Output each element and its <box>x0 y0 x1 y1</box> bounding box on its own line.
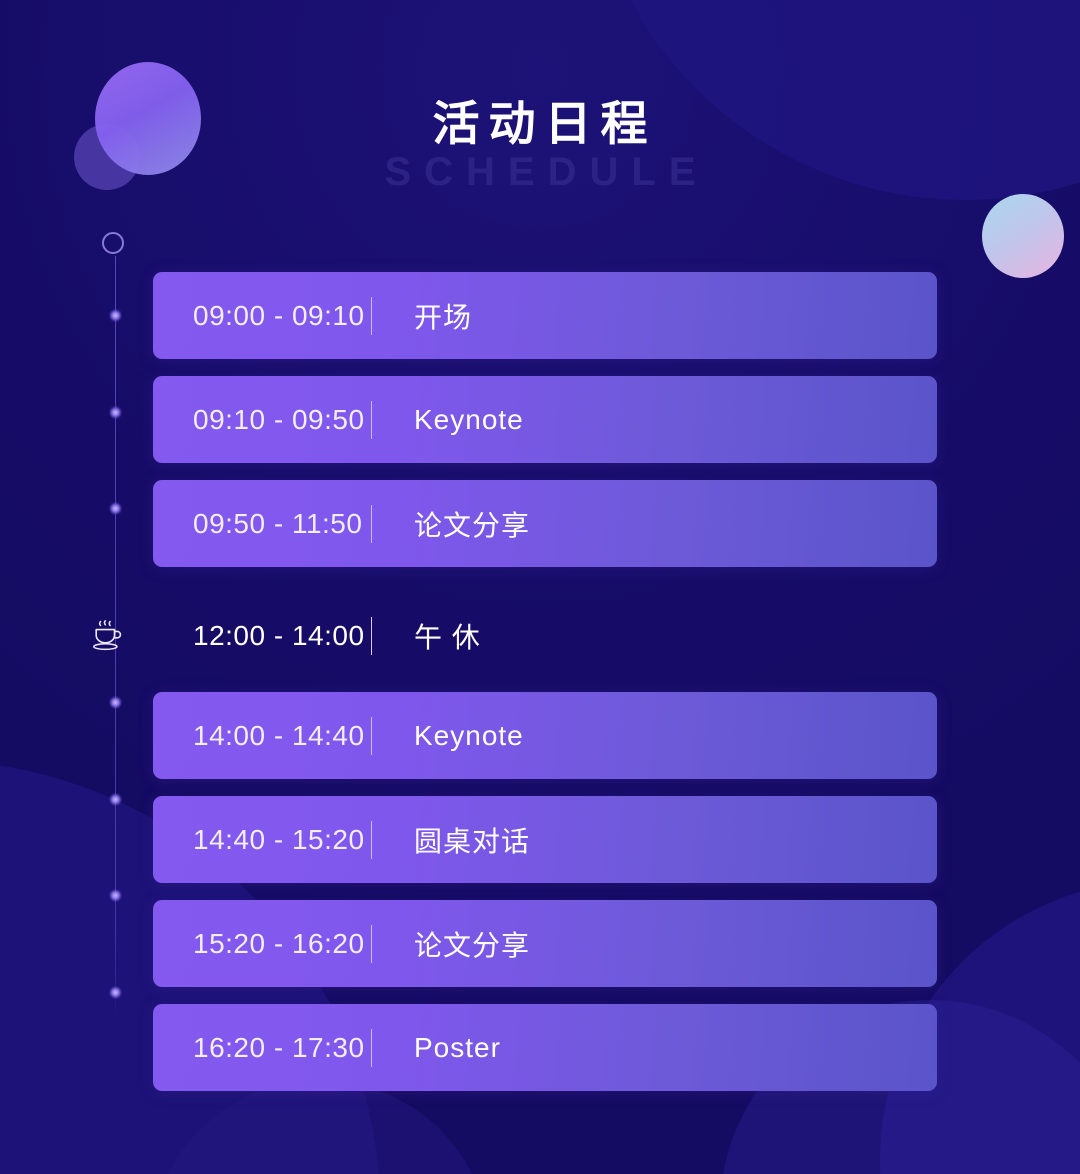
schedule-row-time: 09:00 - 09:10 <box>153 300 371 332</box>
timeline-dot-icon <box>109 986 122 999</box>
schedule-row-divider <box>371 401 372 439</box>
schedule-row-divider <box>371 505 372 543</box>
schedule-row-time: 14:00 - 14:40 <box>153 720 371 752</box>
timeline-dot-icon <box>109 502 122 515</box>
timeline-dot-icon <box>109 889 122 902</box>
schedule-row-divider <box>371 925 372 963</box>
schedule-row-title: Keynote <box>372 404 524 436</box>
schedule-watermark-text: SCHEDULE <box>0 150 1080 195</box>
schedule-poster: SCHEDULE 活动日程 09:00 - 09:10 开场 09:10 - 0… <box>0 0 1080 1174</box>
schedule-row-title: 论文分享 <box>372 924 530 964</box>
schedule-row[interactable]: 09:10 - 09:50 Keynote <box>153 376 937 463</box>
coffee-cup-icon <box>86 614 130 658</box>
schedule-row[interactable]: 14:40 - 15:20 圆桌对话 <box>153 796 937 883</box>
timeline-start-ring-icon <box>102 232 124 254</box>
schedule-row-title: 午 休 <box>372 616 481 656</box>
schedule-row-title: Poster <box>372 1032 501 1064</box>
schedule-row-divider <box>371 617 372 655</box>
schedule-row-divider <box>371 1029 372 1067</box>
schedule-row[interactable]: 14:00 - 14:40 Keynote <box>153 692 937 779</box>
poster-header: SCHEDULE 活动日程 <box>0 98 1080 208</box>
schedule-row-break: 12:00 - 14:00 午 休 <box>153 580 937 692</box>
schedule-row-title: 圆桌对话 <box>372 820 530 860</box>
schedule-row-time: 14:40 - 15:20 <box>153 824 371 856</box>
schedule-row-title: 论文分享 <box>372 504 530 544</box>
schedule-row-divider <box>371 821 372 859</box>
schedule-row-time: 09:10 - 09:50 <box>153 404 371 436</box>
schedule-row-title: 开场 <box>372 296 472 336</box>
schedule-row[interactable]: 09:50 - 11:50 论文分享 <box>153 480 937 567</box>
schedule-row-title: Keynote <box>372 720 524 752</box>
schedule-row-divider <box>371 297 372 335</box>
schedule-row[interactable]: 16:20 - 17:30 Poster <box>153 1004 937 1091</box>
schedule-row-time: 12:00 - 14:00 <box>153 620 371 652</box>
timeline-dot-icon <box>109 793 122 806</box>
schedule-row-time: 15:20 - 16:20 <box>153 928 371 960</box>
page-title: 活动日程 <box>0 98 1080 150</box>
timeline-dot-icon <box>109 696 122 709</box>
schedule-row-time: 16:20 - 17:30 <box>153 1032 371 1064</box>
timeline-dot-icon <box>109 406 122 419</box>
schedule-row-divider <box>371 717 372 755</box>
schedule-row[interactable]: 15:20 - 16:20 论文分享 <box>153 900 937 987</box>
schedule-list: 09:00 - 09:10 开场 09:10 - 09:50 Keynote 0… <box>153 272 937 1108</box>
schedule-row[interactable]: 09:00 - 09:10 开场 <box>153 272 937 359</box>
schedule-row-time: 09:50 - 11:50 <box>153 508 371 540</box>
timeline-dot-icon <box>109 309 122 322</box>
